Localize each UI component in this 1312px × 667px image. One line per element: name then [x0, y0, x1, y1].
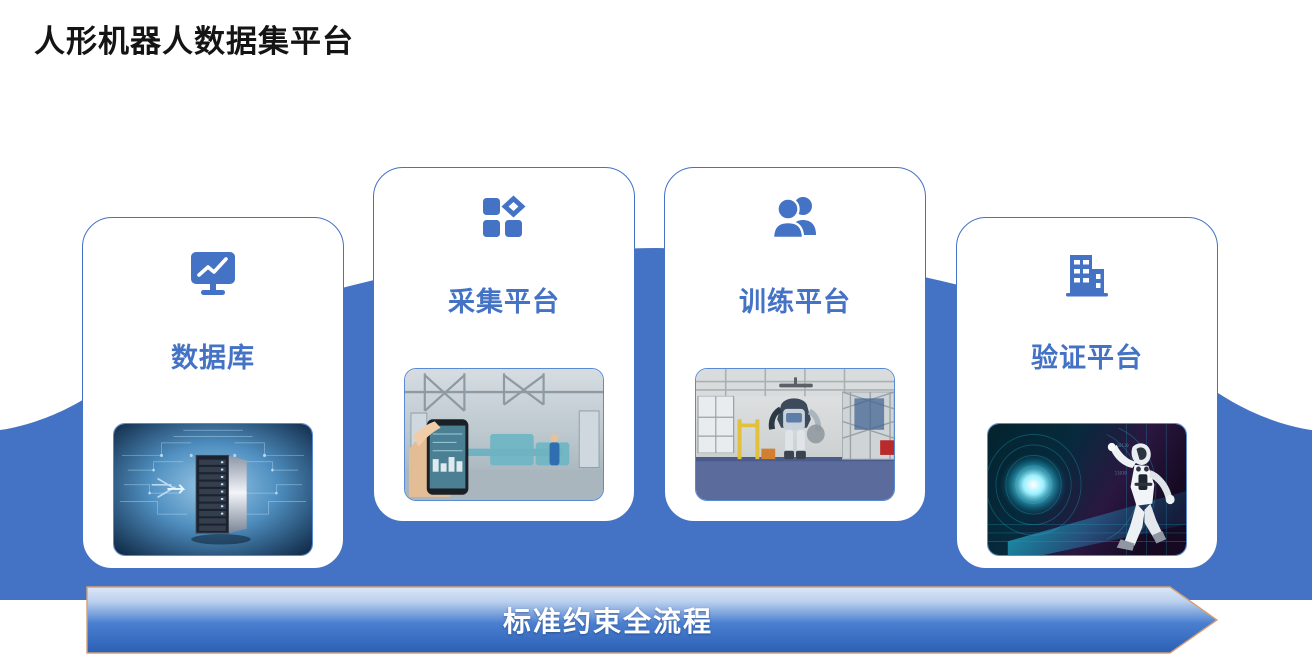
card-title-verification-platform: 验证平台: [957, 336, 1217, 375]
card-title-database: 数据库: [83, 336, 343, 375]
card-database[interactable]: 数据库: [82, 217, 344, 569]
monitor-chart-icon: [83, 246, 343, 302]
card-verification-platform[interactable]: 验证平台: [956, 217, 1218, 569]
users-icon: [665, 190, 925, 246]
building-icon: [957, 246, 1217, 302]
card-training-platform[interactable]: 训练平台: [664, 167, 926, 522]
photo-server-rack: [113, 423, 313, 556]
photo-futuristic-robot: 1011001001 1101000111: [987, 423, 1187, 556]
card-title-collection-platform: 采集平台: [374, 280, 634, 319]
process-banner[interactable]: 标准约束全流程: [86, 586, 1218, 654]
svg-text:11010: 11010: [1115, 470, 1127, 475]
card-title-training-platform: 训练平台: [665, 280, 925, 319]
card-collection-platform[interactable]: 采集平台: [373, 167, 635, 522]
grid-squares-diamond-icon: [374, 190, 634, 246]
slide-canvas: 人形机器人数据集平台 数据库: [0, 0, 1312, 667]
photo-factory-tablet: [404, 368, 604, 501]
photo-warehouse-robot: [695, 368, 895, 501]
svg-text:10110: 10110: [1117, 443, 1129, 448]
page-title: 人形机器人数据集平台: [34, 16, 354, 61]
